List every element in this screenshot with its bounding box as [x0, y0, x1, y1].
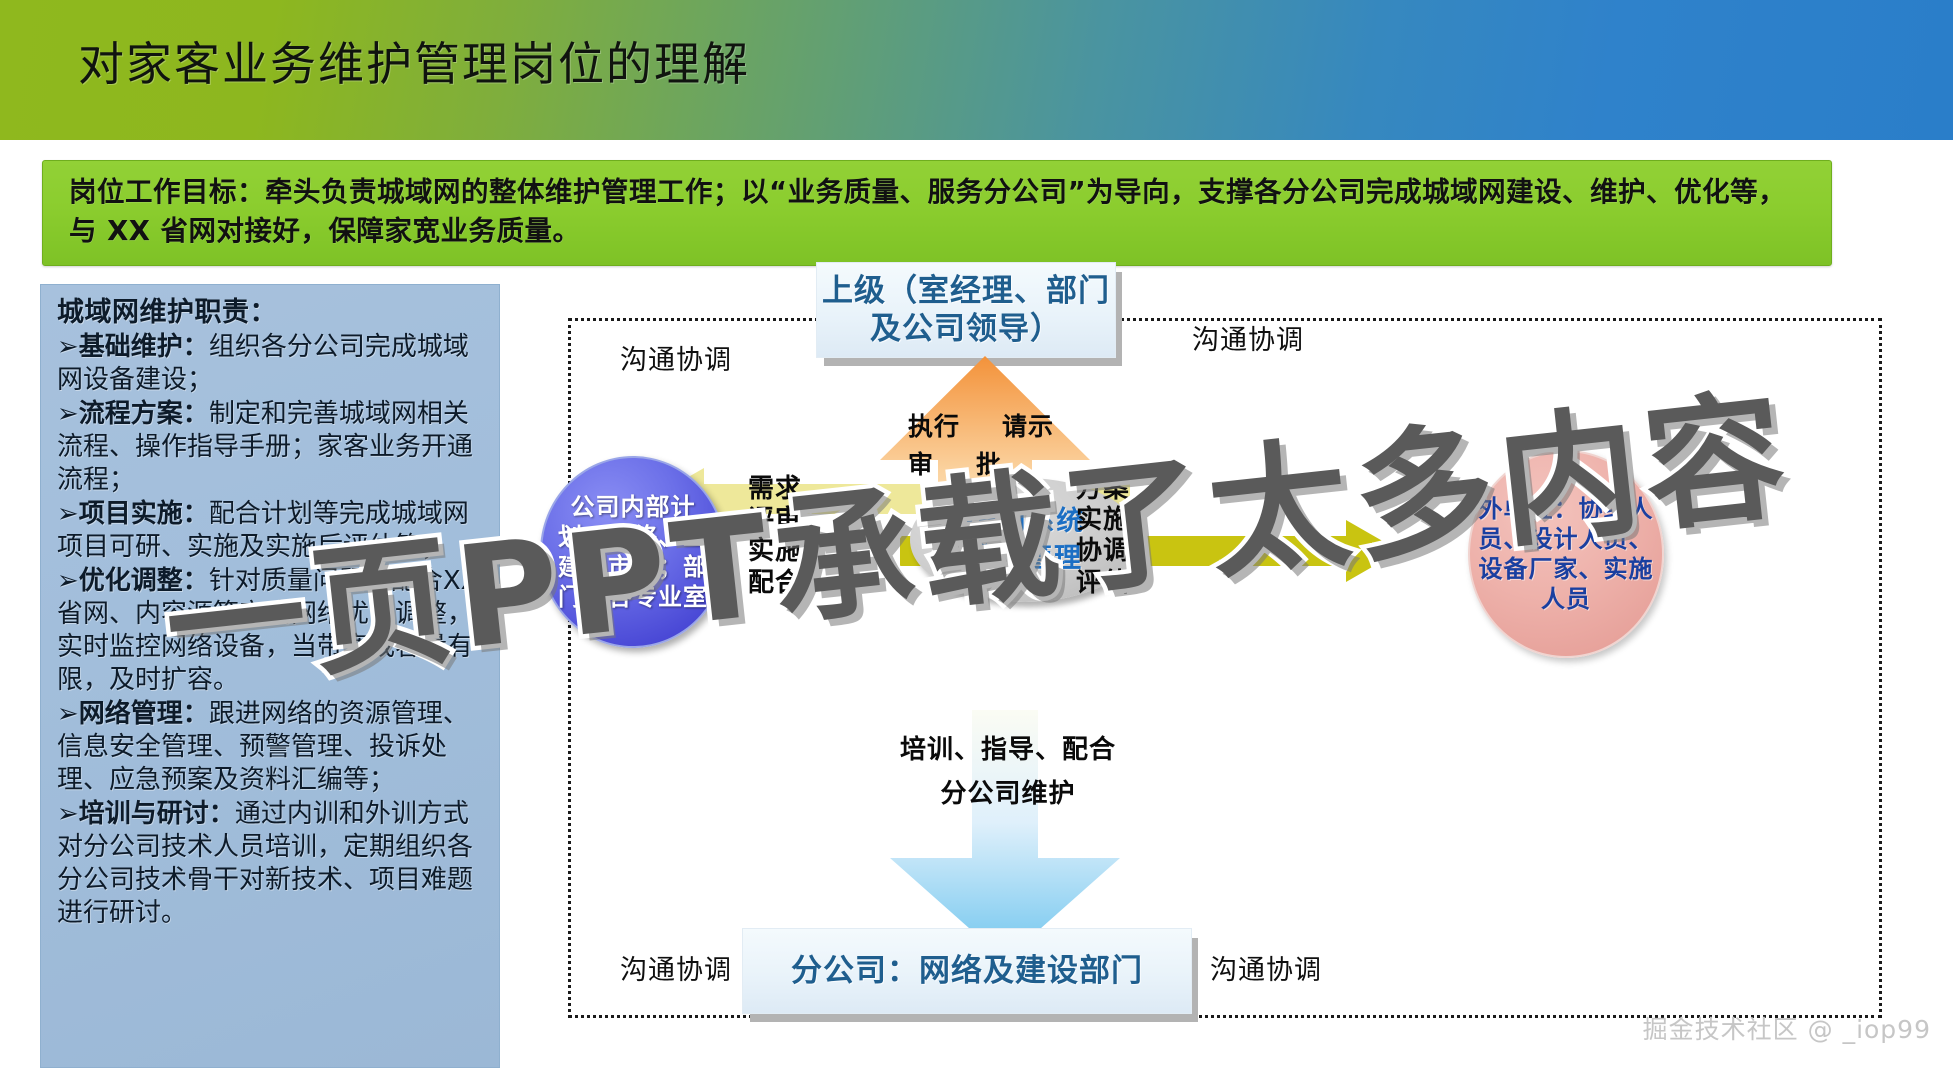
comm-label-top-left: 沟通协调	[620, 338, 732, 377]
node-internal-departments[interactable]: 公司内部计划、网络、工建、市场；部门内各专业室	[540, 456, 726, 648]
right-circle-label: 外单位：协维人员、设计人员、设备厂家、实施人员	[1470, 494, 1662, 614]
slide-canvas: 对家客业务维护管理岗位的理解 岗位工作目标：牵头负责城域网的整体维护管理工作；以…	[0, 0, 1953, 1068]
node-branch-company[interactable]: 分公司：网络及建设部门	[742, 928, 1192, 1014]
duty-item-label: 培训与研讨：	[79, 799, 235, 829]
bullet-arrow-icon: ➢	[57, 699, 79, 729]
down-label-training: 培训、指导、配合	[838, 728, 1178, 772]
node-superior[interactable]: 上级（室经理、部门及公司领导）	[816, 262, 1116, 358]
duty-item-label: 网络管理：	[79, 699, 209, 729]
node-superior-label: 上级（室经理、部门及公司领导）	[817, 272, 1115, 349]
down-label-branch-maintenance: 分公司维护	[838, 772, 1178, 816]
node-external-units[interactable]: 外单位：协维人员、设计人员、设备厂家、实施人员	[1468, 450, 1664, 658]
left-circle-label: 公司内部计划、网络、工建、市场；部门内各专业室	[542, 492, 724, 612]
up-label-request: 请示	[1002, 408, 1054, 446]
job-goal-text: 岗位工作目标：牵头负责城域网的整体维护管理工作；以“业务质量、服务分公司”为导向…	[69, 173, 1809, 251]
duty-panel: 城域网维护职责： ➢基础维护：组织各分公司完成城域网设备建设； ➢流程方案：制定…	[40, 284, 500, 1068]
comm-label-bottom-left: 沟通协调	[620, 948, 732, 987]
duty-list-item: ➢培训与研讨：通过内训和外训方式对分公司技术人员培训，定期组织各分公司技术骨干对…	[57, 798, 485, 930]
duty-list-item: ➢流程方案：制定和完善城域网相关流程、操作指导手册；家客业务开通流程；	[57, 398, 485, 497]
duty-item-label: 基础维护：	[79, 332, 209, 362]
flow-labels-right: 方案 实施 协调 评估	[1076, 474, 1130, 599]
duty-item-label: 项目实施：	[79, 499, 209, 529]
comm-label-bottom-right: 沟通协调	[1210, 948, 1322, 987]
relationship-diagram: 沟通协调 沟通协调 沟通协调 沟通协调 上级（室经理、部门及公司领导） 执行 请…	[520, 270, 1953, 1068]
duty-list-item: ➢项目实施：配合计划等完成城域网项目可研、实施及实施后评估等；	[57, 498, 485, 564]
duty-list-item: ➢网络管理：跟进网络的资源管理、信息安全管理、预警管理、投诉处理、应急预案及资料…	[57, 698, 485, 797]
bullet-arrow-icon: ➢	[57, 566, 79, 596]
down-arrow-labels: 培训、指导、配合 分公司维护	[838, 728, 1178, 816]
duty-list-item: ➢优化调整：针对质量问题，配合XX省网、内容源等完成网络优化调整，实时监控网络设…	[57, 565, 485, 697]
slide-header-banner: 对家客业务维护管理岗位的理解	[0, 0, 1953, 140]
bullet-arrow-icon: ➢	[57, 332, 79, 362]
center-oval-line2: 维护管理	[967, 540, 1083, 577]
corner-watermark-text: 掘金技术社区 @ _iop99	[1643, 1010, 1931, 1046]
dashed-boundary-right	[1120, 318, 1882, 1018]
duty-item-label: 流程方案：	[79, 399, 209, 429]
bullet-arrow-icon: ➢	[57, 499, 79, 529]
page-title: 对家客业务维护管理岗位的理解	[78, 28, 750, 94]
bullet-arrow-icon: ➢	[57, 399, 79, 429]
job-goal-banner: 岗位工作目标：牵头负责城域网的整体维护管理工作；以“业务质量、服务分公司”为导向…	[42, 160, 1832, 266]
bullet-arrow-icon: ➢	[57, 799, 79, 829]
node-branch-company-label: 分公司：网络及建设部门	[791, 952, 1143, 990]
center-oval-line1: IP网系统	[965, 503, 1086, 540]
duty-list-item: ➢基础维护：组织各分公司完成城域网设备建设；	[57, 331, 485, 397]
duty-panel-title: 城域网维护职责：	[57, 295, 485, 330]
duty-item-label: 优化调整：	[79, 566, 209, 596]
comm-label-top-right: 沟通协调	[1192, 318, 1304, 357]
up-label-execute: 执行	[908, 408, 960, 446]
flow-labels-left: 需求 评审 实施 配合	[748, 474, 802, 599]
